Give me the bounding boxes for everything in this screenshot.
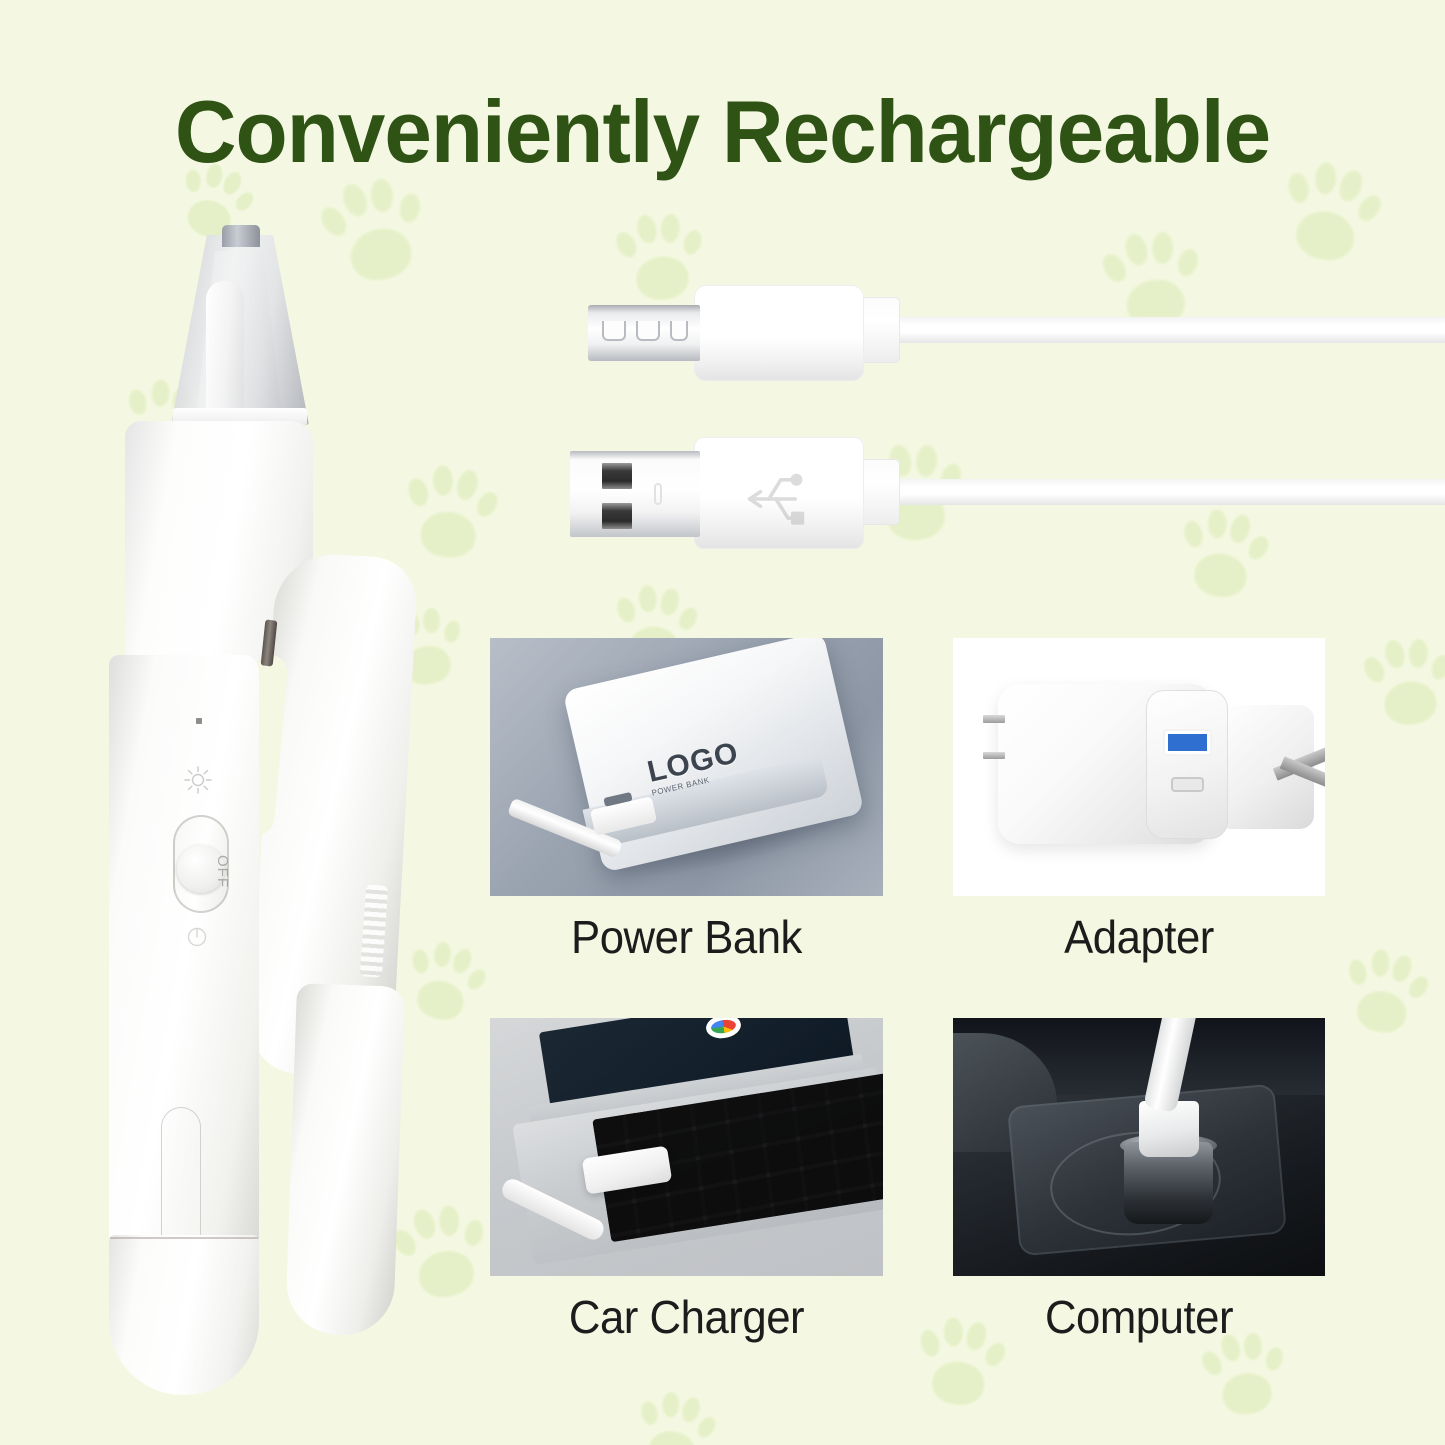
- micro-usb-notch: [636, 321, 660, 341]
- usb-a-contact-pin: [602, 463, 632, 489]
- clipper-blade: [206, 281, 244, 411]
- paw-print-icon: [623, 1375, 726, 1445]
- product-image-nail-clipper: OFF: [95, 225, 445, 1395]
- laptop-photo: [490, 1018, 883, 1276]
- adapter-us-prong: [983, 752, 1005, 760]
- adapter-usb-c-port: [1171, 777, 1204, 791]
- tile-car-charger: Car Charger: [490, 1018, 883, 1276]
- clipper-handle-cap: [109, 1235, 259, 1395]
- light-bulb-icon: [183, 765, 213, 795]
- handle-slot-groove: [161, 1107, 201, 1237]
- paw-print-icon: [1352, 621, 1445, 737]
- usb-a-metal-shell: [570, 451, 700, 537]
- tile-power-bank: LOGO POWER BANK Power Bank: [490, 638, 883, 896]
- usb-trident-icon: [740, 463, 812, 540]
- page-title: Conveniently Rechargeable: [22, 86, 1424, 178]
- power-icon: [185, 925, 209, 949]
- micro-usb-notch: [602, 321, 626, 341]
- usb-a-contact-pin: [602, 503, 632, 529]
- tile-adapter: Adapter: [953, 638, 1325, 896]
- adapter-photo: [953, 638, 1325, 896]
- cable-wire: [892, 317, 1445, 343]
- tile-label-adapter: Adapter: [962, 910, 1315, 964]
- guard-knob: [222, 225, 260, 247]
- switch-off-label: OFF: [214, 855, 231, 888]
- tile-label-car-charger: Car Charger: [500, 1290, 873, 1344]
- clipper-lever-lower: [285, 983, 405, 1337]
- tile-label-power-bank: Power Bank: [500, 910, 873, 964]
- tile-computer: Computer: [953, 1018, 1325, 1276]
- usb-a-keyway: [654, 483, 662, 505]
- adapter-port-face: [1146, 690, 1228, 840]
- adapter-us-prong: [983, 715, 1005, 723]
- paw-print-icon: [1330, 931, 1439, 1046]
- charging-cable-group: [560, 265, 1445, 565]
- adapter-usb-a-port: [1165, 731, 1210, 754]
- tile-label-computer: Computer: [962, 1290, 1315, 1344]
- micro-usb-notch: [670, 321, 688, 341]
- infographic-canvas: Conveniently Rechargeable: [0, 0, 1445, 1445]
- car-charger-photo: [953, 1018, 1325, 1276]
- led-indicator-icon: [196, 718, 202, 724]
- handle-seam-line: [110, 1237, 258, 1239]
- micro-usb-plug-body: [694, 285, 864, 381]
- cable-wire: [892, 479, 1445, 505]
- power-bank-photo: LOGO POWER BANK: [490, 638, 883, 896]
